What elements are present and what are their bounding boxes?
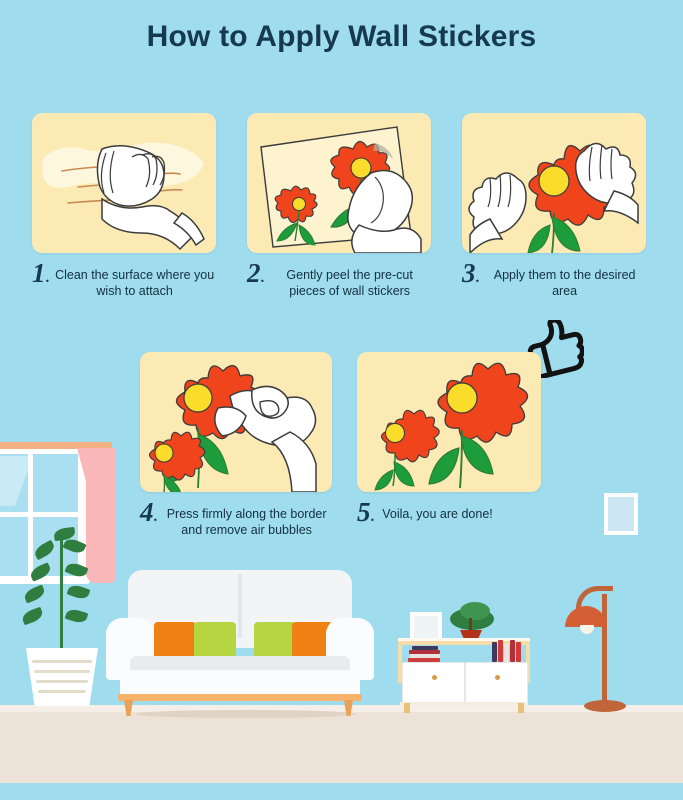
books-row	[490, 640, 524, 662]
step-2-number: 2.	[247, 260, 264, 287]
step-3-text: Apply them to the desired area	[483, 260, 646, 299]
plant-leaf	[21, 607, 45, 625]
step-1-caption: 1. Clean the surface where you wish to a…	[32, 260, 216, 299]
infographic-canvas: How to Apply Wall Stickers 1.	[0, 0, 683, 800]
sofa-leg	[124, 700, 133, 716]
pillow-orange	[154, 622, 196, 660]
books-stack	[406, 646, 446, 662]
step-5-illustration	[357, 352, 541, 492]
plant-leaf	[32, 540, 56, 560]
step-2-caption: 2. Gently peel the pre-cut pieces of wal…	[247, 260, 431, 299]
lamp-base	[584, 700, 626, 712]
step-3-number: 3.	[462, 260, 479, 287]
plant-leaf	[67, 583, 91, 601]
sofa-base	[118, 694, 362, 701]
lamp-bulb	[580, 625, 594, 634]
plant-leaf	[65, 607, 89, 625]
bottom-strip	[0, 783, 683, 800]
sideboard	[398, 610, 530, 715]
pillow-green	[254, 622, 296, 660]
step-1-number: 1.	[32, 260, 49, 287]
step-5: 5. Voila, you are done!	[357, 352, 541, 526]
sofa-shadow	[136, 710, 356, 718]
pillow-green	[194, 622, 236, 660]
floor-lamp	[568, 568, 638, 720]
plant-leaf	[23, 585, 47, 604]
wall-picture-frame	[604, 493, 638, 535]
step-3: 3. Apply them to the desired area	[462, 113, 646, 299]
potted-plant	[8, 520, 118, 705]
sideboard-leg	[404, 703, 410, 713]
plant-stem	[60, 536, 63, 654]
step-4-illustration	[140, 352, 332, 492]
bonsai-foliage-top	[460, 602, 490, 620]
step-1-illustration	[32, 113, 216, 253]
hand-peeling-sticker-sheet-icon	[247, 113, 431, 253]
page-title: How to Apply Wall Stickers	[0, 20, 683, 54]
sideboard-drawer-right[interactable]	[465, 662, 528, 704]
living-room-scene	[0, 420, 683, 800]
finished-flower-stickers-icon	[357, 352, 541, 492]
plant-pot	[26, 648, 98, 706]
step-3-illustration	[462, 113, 646, 253]
step-4-caption: 4. Press firmly along the border and rem…	[140, 499, 332, 538]
step-3-caption: 3. Apply them to the desired area	[462, 260, 646, 299]
plant-leaf	[65, 561, 89, 580]
step-5-text: Voila, you are done!	[378, 499, 541, 522]
hand-pressing-sticker-icon	[140, 352, 332, 492]
sideboard-drawer-left[interactable]	[402, 662, 465, 704]
drawer-knob	[432, 675, 437, 680]
step-5-caption: 5. Voila, you are done!	[357, 499, 541, 526]
sideboard-base	[400, 702, 528, 706]
step-2-illustration	[247, 113, 431, 253]
hand-wiping-surface-icon	[32, 113, 216, 253]
step-2-text: Gently peel the pre-cut pieces of wall s…	[268, 260, 431, 299]
step-1-text: Clean the surface where you wish to atta…	[53, 260, 216, 299]
step-2: 2. Gently peel the pre-cut pieces of wal…	[247, 113, 431, 299]
drawer-knob	[495, 675, 500, 680]
step-1: 1. Clean the surface where you wish to a…	[32, 113, 216, 299]
bonsai-trunk	[469, 618, 472, 632]
step-4: 4. Press firmly along the border and rem…	[140, 352, 332, 538]
step-5-number: 5.	[357, 499, 374, 526]
plant-leaf	[28, 562, 52, 582]
sideboard-leg	[518, 703, 524, 713]
sofa	[106, 570, 374, 715]
two-hands-applying-sticker-icon	[462, 113, 646, 253]
step-4-number: 4.	[140, 499, 157, 526]
step-4-text: Press firmly along the border and remove…	[161, 499, 332, 538]
